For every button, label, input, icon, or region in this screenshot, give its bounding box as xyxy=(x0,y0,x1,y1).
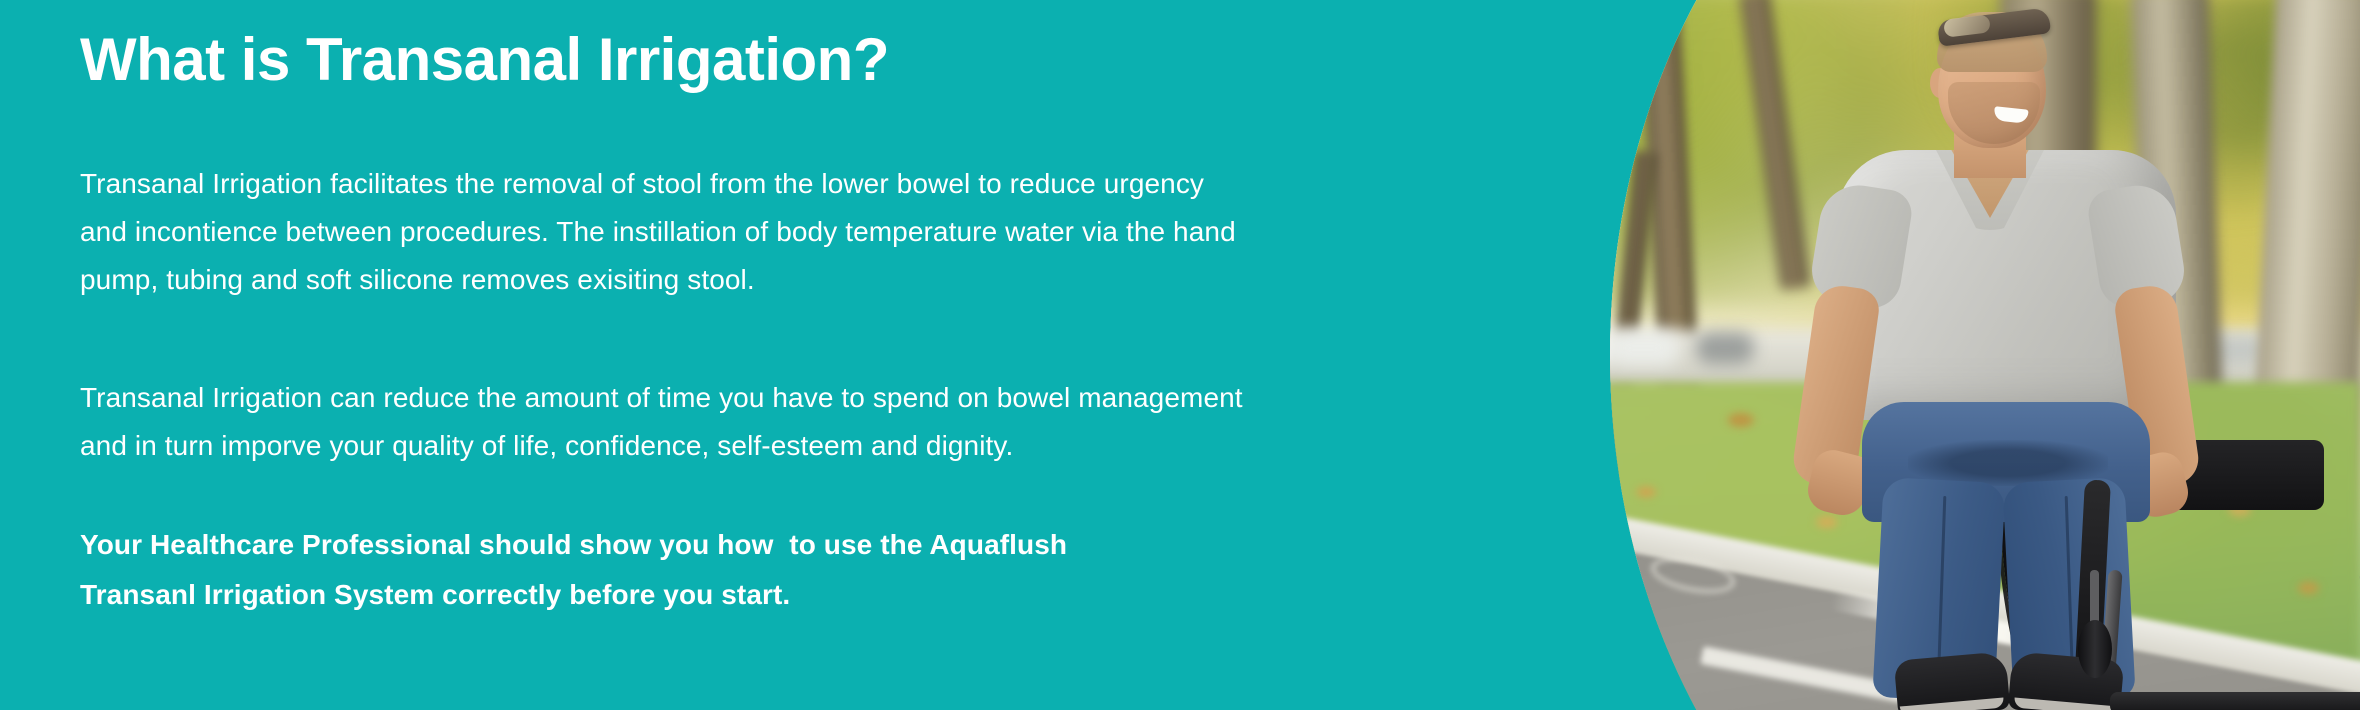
body-paragraph-1: Transanal Irrigation facilitates the rem… xyxy=(80,160,1236,304)
parked-car xyxy=(1518,326,1610,366)
page-title: What is Transanal Irrigation? xyxy=(80,26,889,93)
wheelchair-footplate xyxy=(2110,692,2360,710)
body-paragraph-2: Transanal Irrigation can reduce the amou… xyxy=(80,374,1243,470)
caster-wheel-left xyxy=(2078,620,2112,678)
parked-car xyxy=(1608,330,1678,366)
parked-car xyxy=(1696,332,1754,364)
body-paragraph-emphasis: Your Healthcare Professional should show… xyxy=(80,520,1067,620)
text-content-panel: What is Transanal Irrigation? Transanal … xyxy=(80,0,1460,710)
promotional-banner: What is Transanal Irrigation? Transanal … xyxy=(0,0,2360,710)
person-in-wheelchair xyxy=(1758,10,2228,710)
hero-photo xyxy=(1500,0,2360,710)
tree-trunk-icon xyxy=(1537,0,1611,461)
